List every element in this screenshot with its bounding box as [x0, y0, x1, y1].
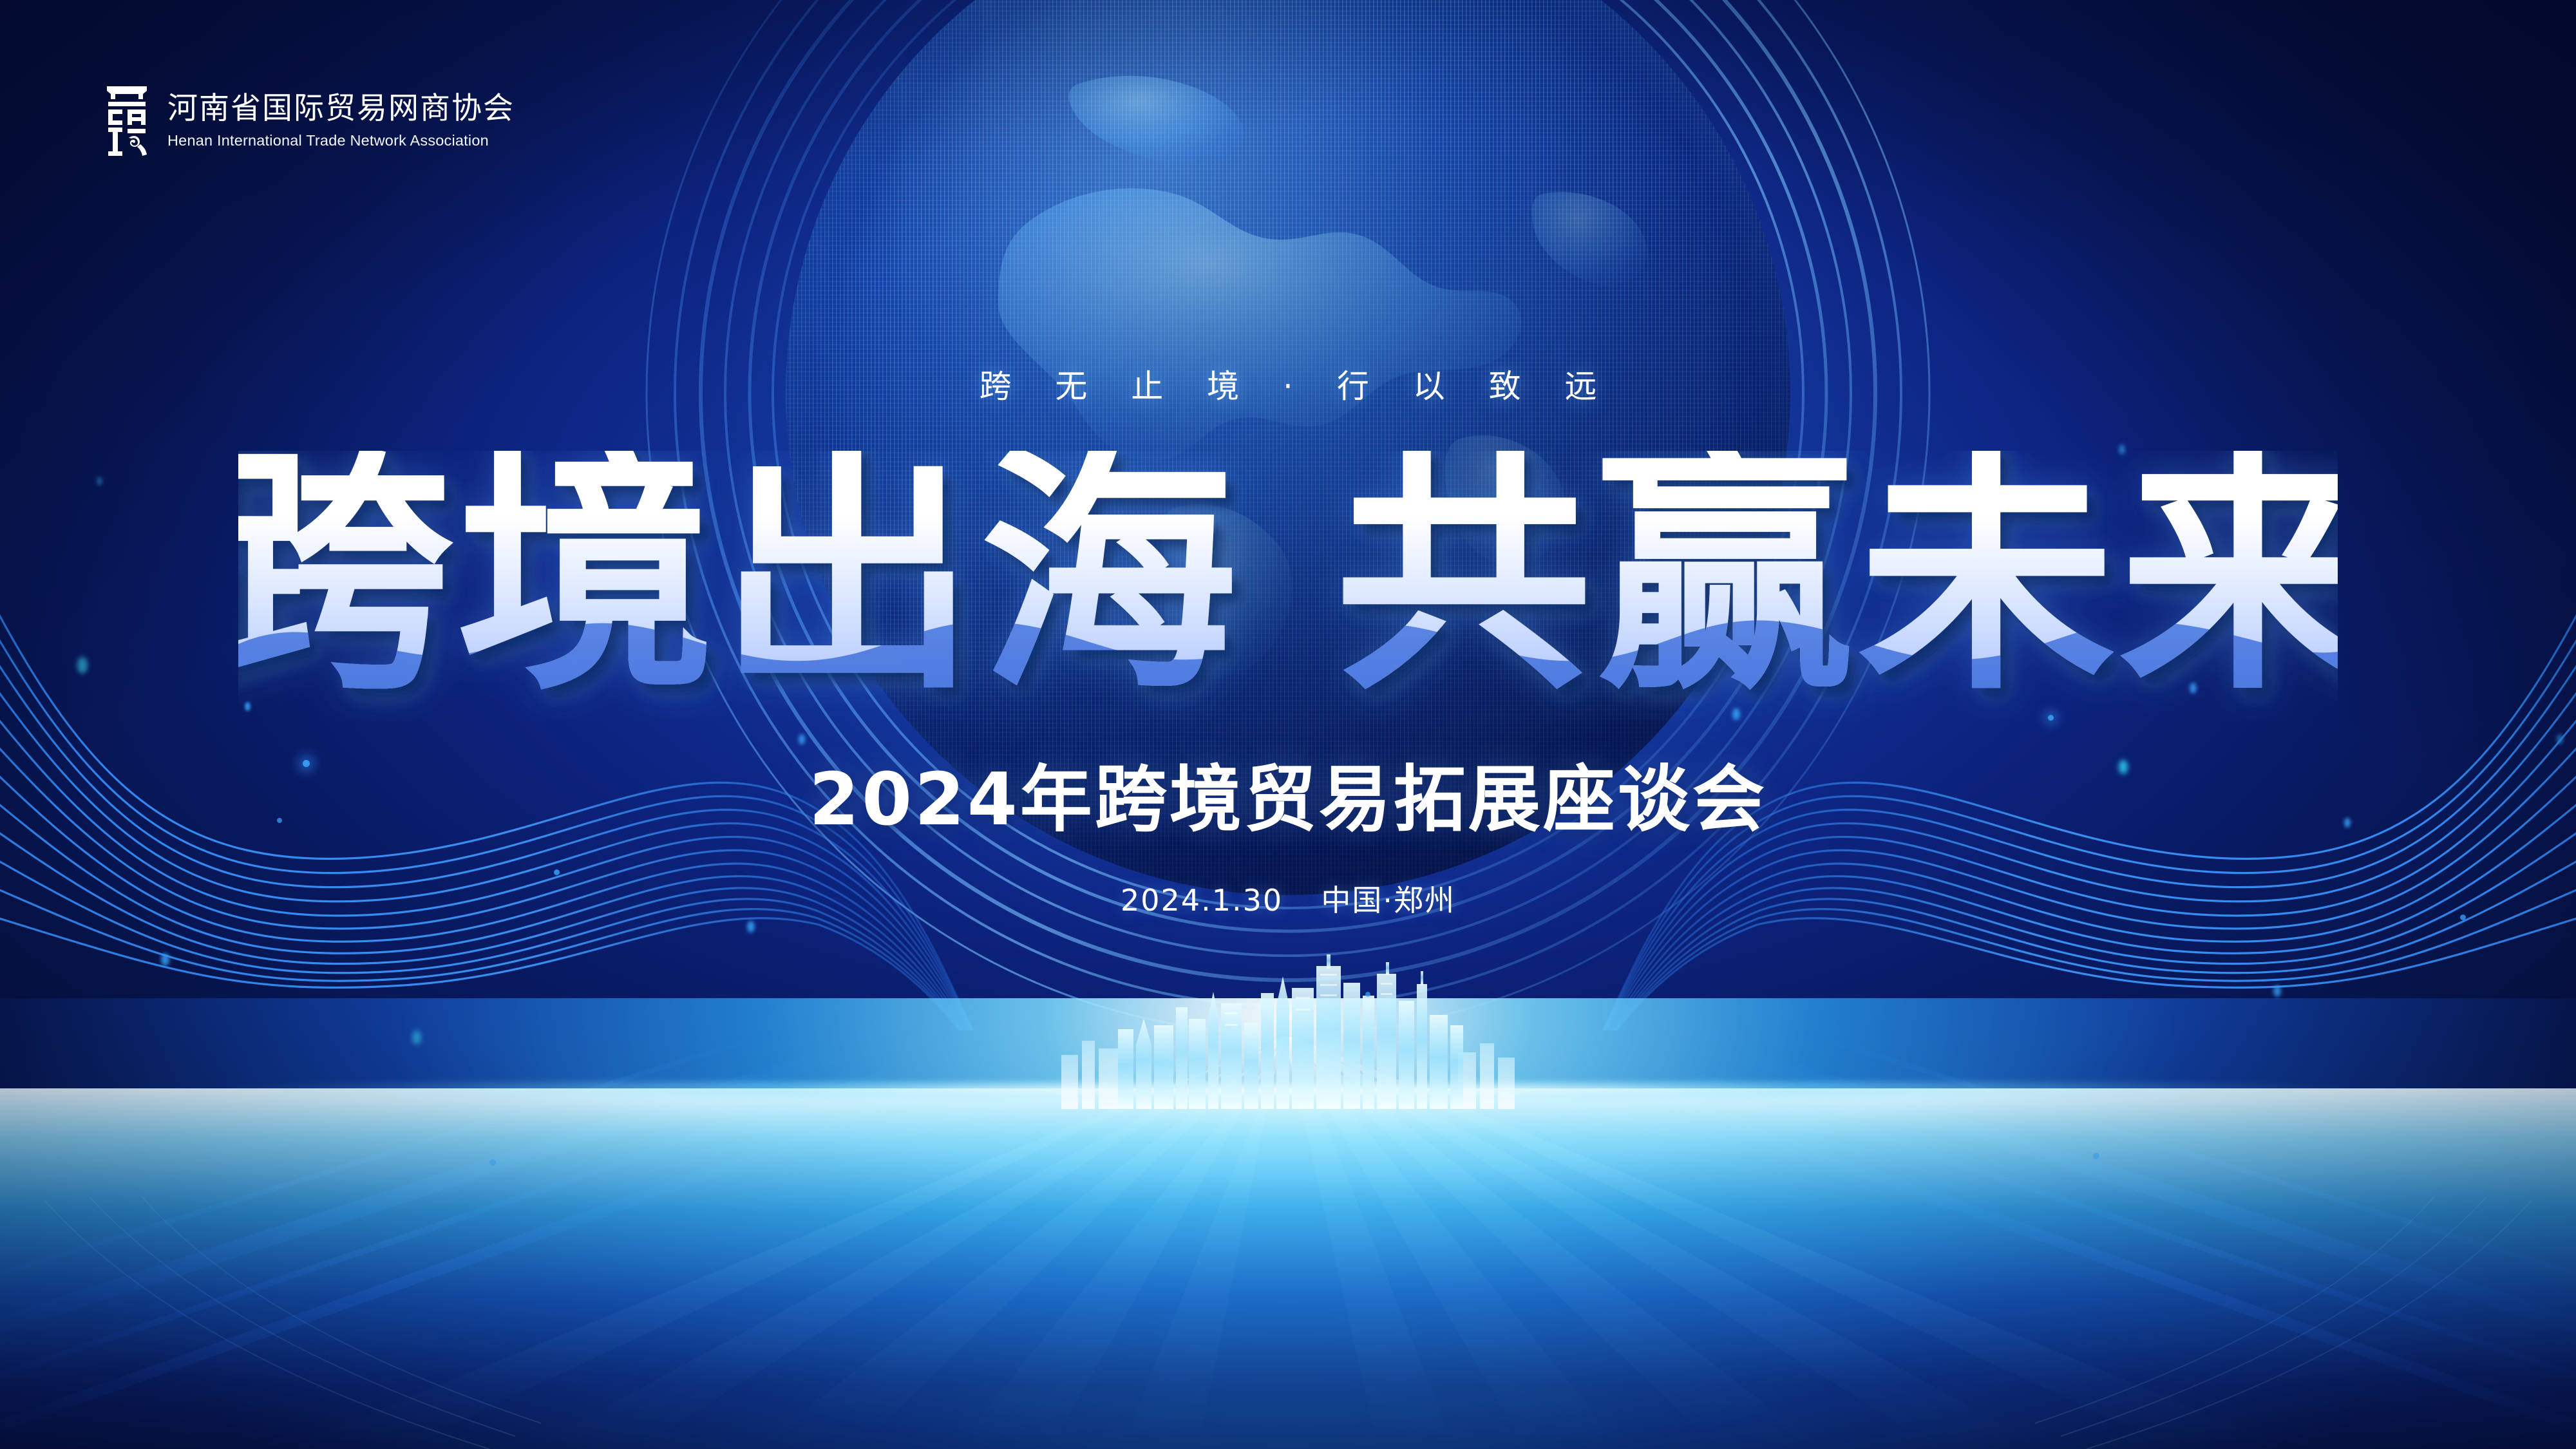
- logo-name-cn: 河南省国际贸易网商协会: [167, 91, 515, 126]
- main-title-artwork: 跨境出海 共赢未来 跨境出海 共赢未来: [238, 451, 2338, 721]
- event-date: 2024.1.30: [1121, 883, 1283, 918]
- event-poster: 河南省国际贸易网商协会 Henan International Trade Ne…: [0, 0, 2576, 1449]
- event-date-location: 2024.1.30 中国·郑州: [0, 877, 2576, 920]
- main-title: 跨境出海 共赢未来 跨境出海 共赢未来: [0, 451, 2576, 724]
- association-logo[interactable]: 河南省国际贸易网商协会 Henan International Trade Ne…: [103, 82, 515, 160]
- event-location: 中国·郑州: [1321, 883, 1455, 918]
- logo-text-group: 河南省国际贸易网商协会 Henan International Trade Ne…: [167, 91, 515, 151]
- subtitle: 2024年跨境贸易拓展座谈会: [0, 764, 2576, 836]
- association-seal-icon: [103, 82, 151, 160]
- corner-darkening: [0, 0, 2576, 1449]
- logo-name-en: Henan International Trade Network Associ…: [167, 131, 515, 151]
- tagline: 跨 无 止 境 · 行 以 致 远: [0, 361, 2576, 407]
